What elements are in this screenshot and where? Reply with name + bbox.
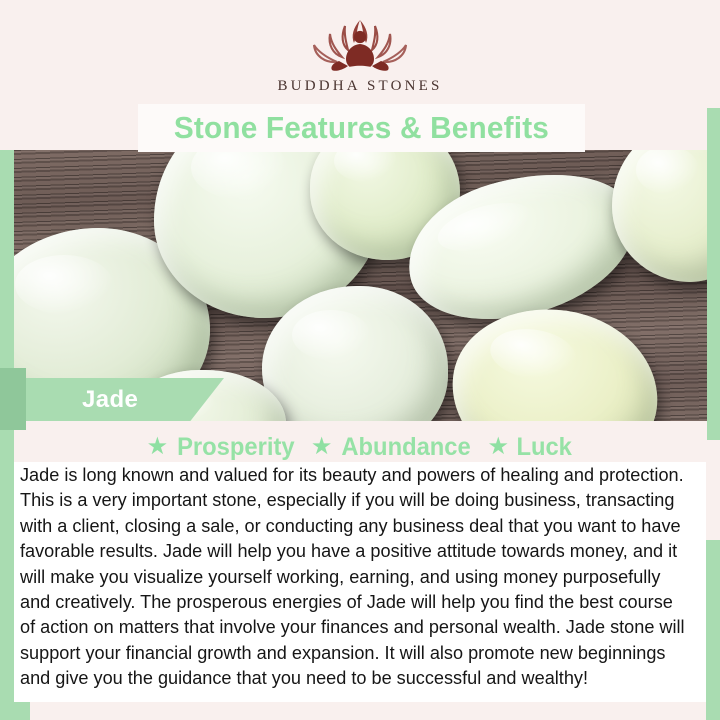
stone-name: Jade <box>82 386 138 414</box>
decorative-band-bottom-right <box>706 540 720 720</box>
star-icon: ★ <box>147 435 169 459</box>
title-banner: Stone Features & Benefits <box>138 104 585 152</box>
star-icon: ★ <box>487 435 509 459</box>
infographic-page: BUDDHA STONES Stone Features & Benefits … <box>0 0 720 720</box>
stone-name-banner: Jade <box>14 378 224 421</box>
benefit-item: ★ Abundance <box>311 433 475 462</box>
lotus-meditation-icon <box>301 14 419 76</box>
benefits-row: ★ Prosperity ★ Abundance ★ Luck <box>0 430 720 464</box>
page-title: Stone Features & Benefits <box>174 110 549 146</box>
benefit-label: Luck <box>516 433 571 462</box>
brand-header: BUDDHA STONES <box>0 0 720 108</box>
jade-accent-bar <box>0 368 26 430</box>
benefit-label: Prosperity <box>177 433 294 462</box>
star-icon: ★ <box>311 435 333 459</box>
description-text: Jade is long known and valued for its be… <box>20 462 690 691</box>
brand-name: BUDDHA STONES <box>277 78 442 95</box>
benefit-item: ★ Prosperity <box>147 433 298 462</box>
benefit-label: Abundance <box>342 433 471 462</box>
benefit-item: ★ Luck <box>487 433 573 462</box>
description-panel: Jade is long known and valued for its be… <box>14 462 706 702</box>
